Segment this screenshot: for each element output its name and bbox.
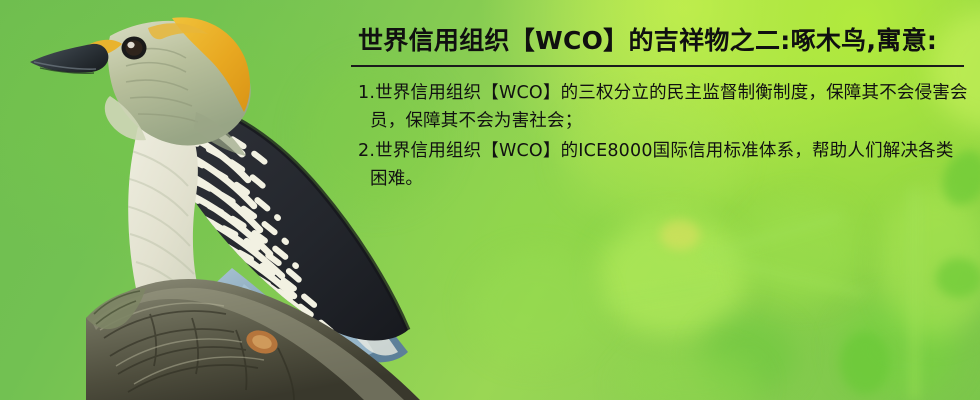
list-item: 2.世界信用组织【WCO】的ICE8000国际信用标准体系，帮助人们解决各类困难… — [348, 137, 970, 193]
list-item: 1.世界信用组织【WCO】的三权分立的民主监督制衡制度，保障其不会侵害会员，保障… — [348, 79, 970, 135]
wco-mascot-banner: 世界信用组织【WCO】的吉祥物之二:啄木鸟,寓意: 1.世界信用组织【WCO】的… — [0, 0, 980, 400]
text-panel: 世界信用组织【WCO】的吉祥物之二:啄木鸟,寓意: 1.世界信用组织【WCO】的… — [348, 24, 972, 214]
page-title: 世界信用组织【WCO】的吉祥物之二:啄木鸟,寓意: — [348, 24, 972, 58]
mascot-meaning-list: 1.世界信用组织【WCO】的三权分立的民主监督制衡制度，保障其不会侵害会员，保障… — [348, 79, 972, 193]
title-divider — [351, 65, 964, 67]
